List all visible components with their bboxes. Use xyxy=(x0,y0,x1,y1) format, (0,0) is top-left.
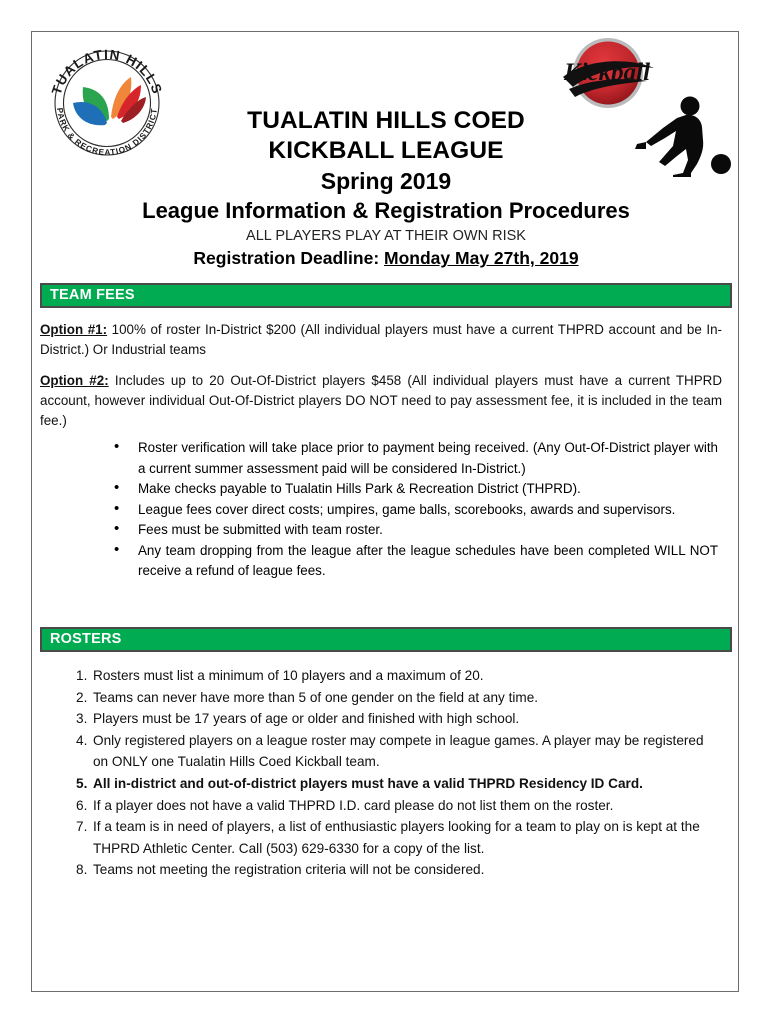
list-item: If a player does not have a valid THPRD … xyxy=(76,795,718,817)
option-1-text: 100% of roster In-District $200 (All ind… xyxy=(40,322,722,357)
document-header: TUALATIN HILLS PARK & RECREATION DISTRIC… xyxy=(32,32,738,257)
risk-notice: ALL PLAYERS PLAY AT THEIR OWN RISK xyxy=(32,227,740,246)
list-item: Players must be 17 years of age or older… xyxy=(76,708,718,730)
list-item: Teams can never have more than 5 of one … xyxy=(76,687,718,709)
title-line-2: KICKBALL LEAGUE xyxy=(32,136,740,166)
rosters-numbered-list: Rosters must list a minimum of 10 player… xyxy=(40,665,732,881)
team-fees-body: Option #1: 100% of roster In-District $2… xyxy=(40,320,732,442)
rosters-body: Rosters must list a minimum of 10 player… xyxy=(40,665,732,881)
title-subtitle: League Information & Registration Proced… xyxy=(32,196,740,226)
option-2-label: Option #2: xyxy=(40,373,109,388)
option-1-paragraph: Option #1: 100% of roster In-District $2… xyxy=(40,320,732,360)
list-item: Only registered players on a league rost… xyxy=(76,730,718,773)
list-item: Teams not meeting the registration crite… xyxy=(76,859,718,881)
deadline-label: Registration Deadline: xyxy=(193,248,379,268)
list-item: Rosters must list a minimum of 10 player… xyxy=(76,665,718,687)
title-line-1: TUALATIN HILLS COED xyxy=(32,106,740,136)
option-2-paragraph: Option #2: Includes up to 20 Out-Of-Dist… xyxy=(40,371,732,431)
document-sheet: TUALATIN HILLS PARK & RECREATION DISTRIC… xyxy=(31,31,739,992)
option-1-label: Option #1: xyxy=(40,322,107,337)
title-block: TUALATIN HILLS COED KICKBALL LEAGUE Spri… xyxy=(32,106,740,270)
team-fees-bullet-list: Roster verification will take place prio… xyxy=(40,438,732,582)
document-page: TUALATIN HILLS PARK & RECREATION DISTRIC… xyxy=(0,0,770,1024)
team-fees-bullet-list-wrapper: Roster verification will take place prio… xyxy=(40,438,732,582)
deadline-value: Monday May 27th, 2019 xyxy=(384,248,579,268)
section-heading-team-fees: TEAM FEES xyxy=(40,283,732,308)
title-season: Spring 2019 xyxy=(32,166,740,196)
registration-deadline: Registration Deadline: Monday May 27th, … xyxy=(32,247,740,270)
section-heading-rosters: ROSTERS xyxy=(40,627,732,652)
list-item: If a team is in need of players, a list … xyxy=(76,816,718,859)
list-item: Make checks payable to Tualatin Hills Pa… xyxy=(112,479,718,500)
option-2-text: Includes up to 20 Out-Of-District player… xyxy=(40,373,722,428)
list-item: Fees must be submitted with team roster. xyxy=(112,520,718,541)
list-item: League fees cover direct costs; umpires,… xyxy=(112,500,718,521)
list-item: Any team dropping from the league after … xyxy=(112,541,718,582)
list-item: Roster verification will take place prio… xyxy=(112,438,718,479)
kickball-wordmark: Kickball xyxy=(563,59,650,86)
list-item: All in-district and out-of-district play… xyxy=(76,773,718,795)
